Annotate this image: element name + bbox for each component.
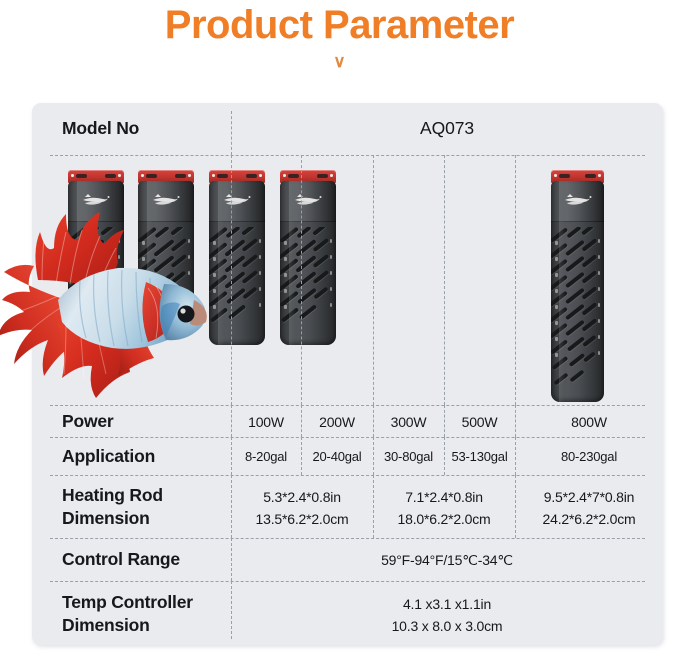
- betta-fish-image: [0, 196, 211, 408]
- column-separator: [231, 581, 232, 639]
- column-separator: [515, 475, 516, 538]
- cap-screw-left: [554, 174, 557, 177]
- page-header: Product Parameter ∨: [0, 0, 679, 95]
- column-separator: [515, 437, 516, 475]
- column-separator: [231, 111, 232, 155]
- column-separator: [373, 155, 374, 405]
- cell-application-200w: 20-40gal: [301, 447, 373, 467]
- page-title: Product Parameter: [0, 0, 679, 48]
- cell-power-100w: 100W: [231, 412, 301, 432]
- cell-power-300w: 300W: [373, 412, 444, 432]
- column-separator: [231, 405, 232, 437]
- cell-application-100w: 8-20gal: [231, 447, 301, 467]
- column-separator: [301, 155, 302, 405]
- cell-heating-rod-dim-medium: 7.1*2.4*0.8in 18.0*6.2*2.0cm: [373, 486, 515, 530]
- cap-screw-right: [188, 174, 191, 177]
- cap-screw-right: [259, 174, 262, 177]
- column-separator: [231, 437, 232, 475]
- cell-application-300w: 30-80gal: [373, 447, 444, 467]
- row-label-application: Application: [62, 445, 155, 468]
- column-separator: [373, 475, 374, 538]
- cap-screw-right: [118, 174, 121, 177]
- column-separator: [515, 405, 516, 437]
- cap-screw-right: [330, 174, 333, 177]
- heater-vents: [209, 227, 265, 337]
- cap-screw-left: [141, 174, 144, 177]
- cell-model-no-value: AQ073: [231, 118, 663, 138]
- column-separator: [301, 405, 302, 437]
- chevron-down-icon: ∨: [0, 54, 679, 70]
- column-separator: [231, 475, 232, 538]
- table-row-temp-controller-dimension: Temp Controller Dimension 4.1 x3.1 x1.1i…: [32, 581, 663, 645]
- brand-logo-icon: [293, 193, 323, 208]
- table-row-heating-rod-dimension: Heating Rod Dimension 5.3*2.4*0.8in 13.5…: [32, 475, 663, 538]
- row-label-control-range: Control Range: [62, 548, 180, 571]
- column-separator: [515, 155, 516, 405]
- cell-power-500w: 500W: [444, 412, 515, 432]
- column-separator: [444, 155, 445, 405]
- cell-heating-rod-dim-small: 5.3*2.4*0.8in 13.5*6.2*2.0cm: [231, 486, 373, 530]
- fish-caudal-fin: [0, 265, 72, 376]
- row-label-model-no: Model No: [62, 117, 139, 140]
- cap-screw-left: [71, 174, 74, 177]
- cell-heating-rod-dim-large: 9.5*2.4*7*0.8in 24.2*6.2*2.0cm: [515, 486, 663, 530]
- row-label-heating-rod-dimension: Heating Rod Dimension: [62, 484, 163, 530]
- row-label-temp-controller-dimension: Temp Controller Dimension: [62, 591, 193, 637]
- heater-body: [280, 181, 336, 345]
- cap-screw-left: [283, 174, 286, 177]
- column-separator: [373, 437, 374, 475]
- cell-temp-controller-dim-value: 4.1 x3.1 x1.1in 10.3 x 8.0 x 3.0cm: [231, 593, 663, 637]
- table-row-power: Power 100W 200W 300W 500W 800W: [32, 405, 663, 437]
- heater-body: [551, 181, 604, 402]
- heater-800w-image: [551, 170, 604, 402]
- column-separator: [444, 437, 445, 475]
- cell-power-200w: 200W: [301, 412, 373, 432]
- heater-300w-image: [209, 170, 265, 345]
- cell-application-500w: 53-130gal: [444, 447, 515, 467]
- column-separator: [373, 405, 374, 437]
- table-row-control-range: Control Range 59°F-94°F/15℃-34℃: [32, 538, 663, 581]
- heater-vents: [280, 227, 336, 337]
- brand-logo-icon: [563, 193, 593, 208]
- cell-control-range-value: 59°F-94°F/15℃-34℃: [231, 550, 663, 570]
- column-separator: [444, 405, 445, 437]
- fish-eye: [178, 306, 195, 323]
- column-separator: [231, 155, 232, 405]
- column-separator: [231, 538, 232, 581]
- table-row-model-no: Model No AQ073: [32, 103, 663, 155]
- cell-power-800w: 800W: [515, 412, 663, 432]
- heater-vents: [551, 227, 604, 394]
- table-row-application: Application 8-20gal 20-40gal 30-80gal 53…: [32, 437, 663, 475]
- heater-500w-image: [280, 170, 336, 345]
- brand-logo-icon: [222, 193, 252, 208]
- cap-screw-left: [212, 174, 215, 177]
- cap-screw-right: [598, 174, 601, 177]
- column-separator: [301, 437, 302, 475]
- heater-body: [209, 181, 265, 345]
- fish-eye-highlight: [180, 308, 185, 313]
- cell-application-800w: 80-230gal: [515, 447, 663, 467]
- row-label-power: Power: [62, 410, 114, 433]
